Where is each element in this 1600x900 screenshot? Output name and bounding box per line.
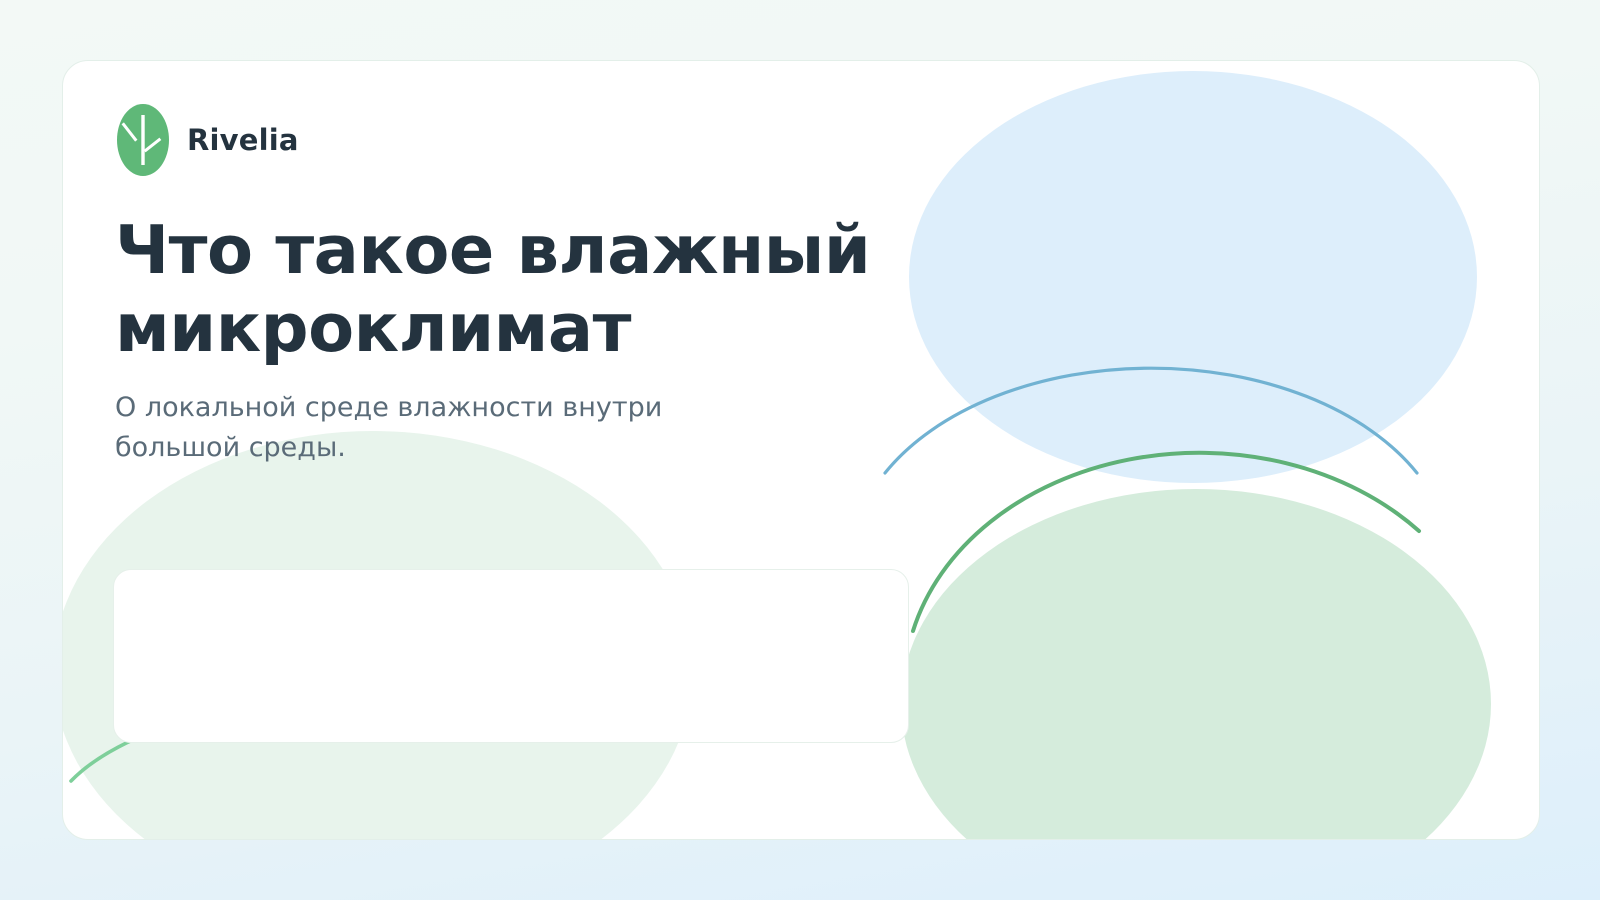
hero-card: Rivelia Что такое влажный микроклимат О … [62,60,1540,840]
arc-green [913,453,1419,631]
page-title: Что такое влажный микроклимат [115,211,945,368]
tree-icon [115,101,171,179]
headline-block: Что такое влажный микроклимат О локально… [115,211,945,468]
page-subtitle: О локальной среде влажности внутри больш… [115,388,775,468]
brand-name: Rivelia [187,126,299,155]
content-panel [113,569,909,743]
slide-canvas: Rivelia Что такое влажный микроклимат О … [0,0,1600,900]
brand-lockup[interactable]: Rivelia [115,101,299,179]
